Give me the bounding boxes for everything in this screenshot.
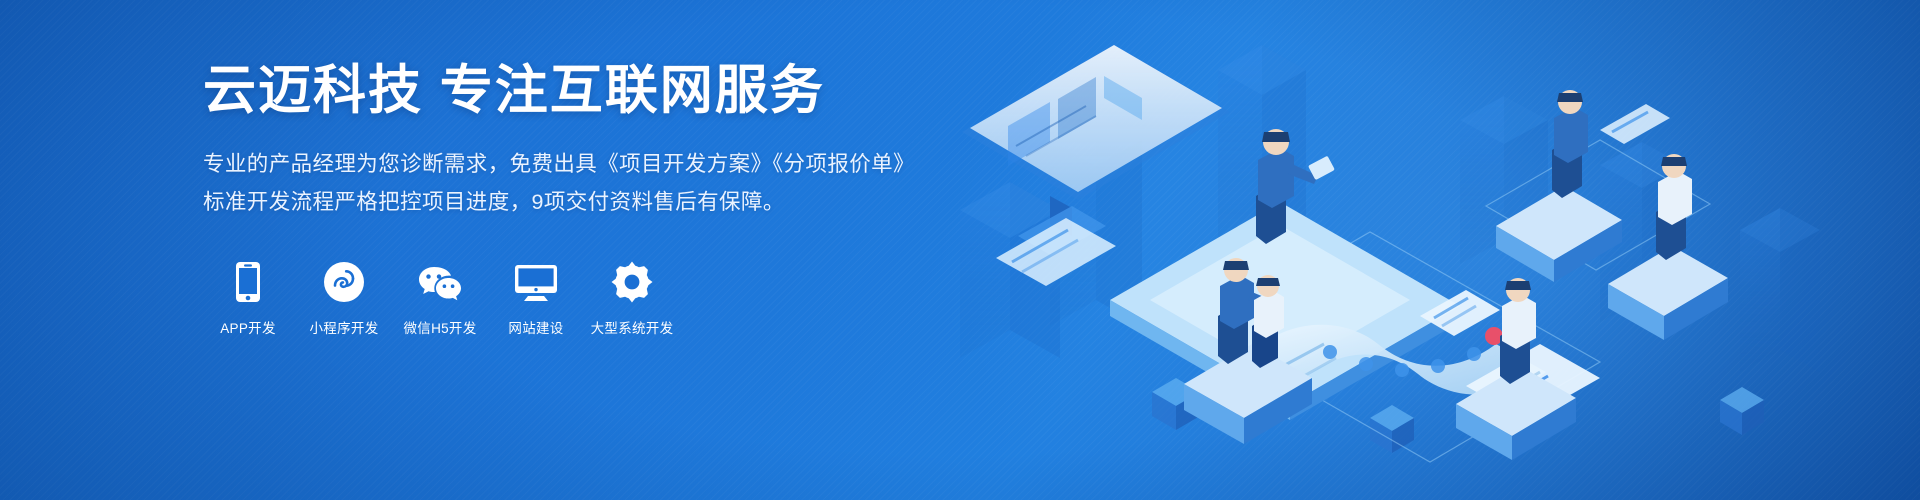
subtitle-block: 专业的产品经理为您诊断需求，免费出具《项目开发方案》《分项报价单》 标准开发流程… — [203, 145, 963, 222]
banner-content: 云迈科技 专注互联网服务 专业的产品经理为您诊断需求，免费出具《项目开发方案》《… — [203, 60, 963, 337]
service-item-wechat[interactable]: 微信H5开发 — [403, 257, 477, 337]
mobile-phone-icon — [235, 257, 261, 303]
subtitle-line-1: 专业的产品经理为您诊断需求，免费出具《项目开发方案》《分项报价单》 — [203, 145, 963, 183]
subtitle-line-2: 标准开发流程严格把控项目进度，9项交付资料售后有保障。 — [203, 183, 963, 221]
wechat-icon — [417, 257, 463, 303]
service-label-large-system: 大型系统开发 — [591, 317, 674, 337]
gear-icon — [611, 257, 653, 303]
service-label-website: 网站建设 — [508, 317, 563, 337]
spacer — [477, 257, 499, 337]
spacer — [285, 257, 307, 337]
service-label-wechat: 微信H5开发 — [403, 317, 476, 337]
spacer — [381, 257, 403, 337]
isometric-illustration — [900, 0, 1920, 500]
service-item-app[interactable]: APP开发 — [211, 257, 285, 337]
monitor-icon — [513, 257, 559, 303]
service-label-mini-program: 小程序开发 — [310, 317, 379, 337]
service-item-large-system[interactable]: 大型系统开发 — [595, 257, 669, 337]
mini-program-icon — [323, 257, 365, 303]
promo-banner: 云迈科技 专注互联网服务 专业的产品经理为您诊断需求，免费出具《项目开发方案》《… — [0, 0, 1920, 500]
service-item-website[interactable]: 网站建设 — [499, 257, 573, 337]
service-item-mini-program[interactable]: 小程序开发 — [307, 257, 381, 337]
service-icon-row: APP开发 小程序开发 — [211, 257, 963, 337]
service-label-app: APP开发 — [220, 317, 276, 337]
page-title: 云迈科技 专注互联网服务 — [203, 60, 963, 123]
